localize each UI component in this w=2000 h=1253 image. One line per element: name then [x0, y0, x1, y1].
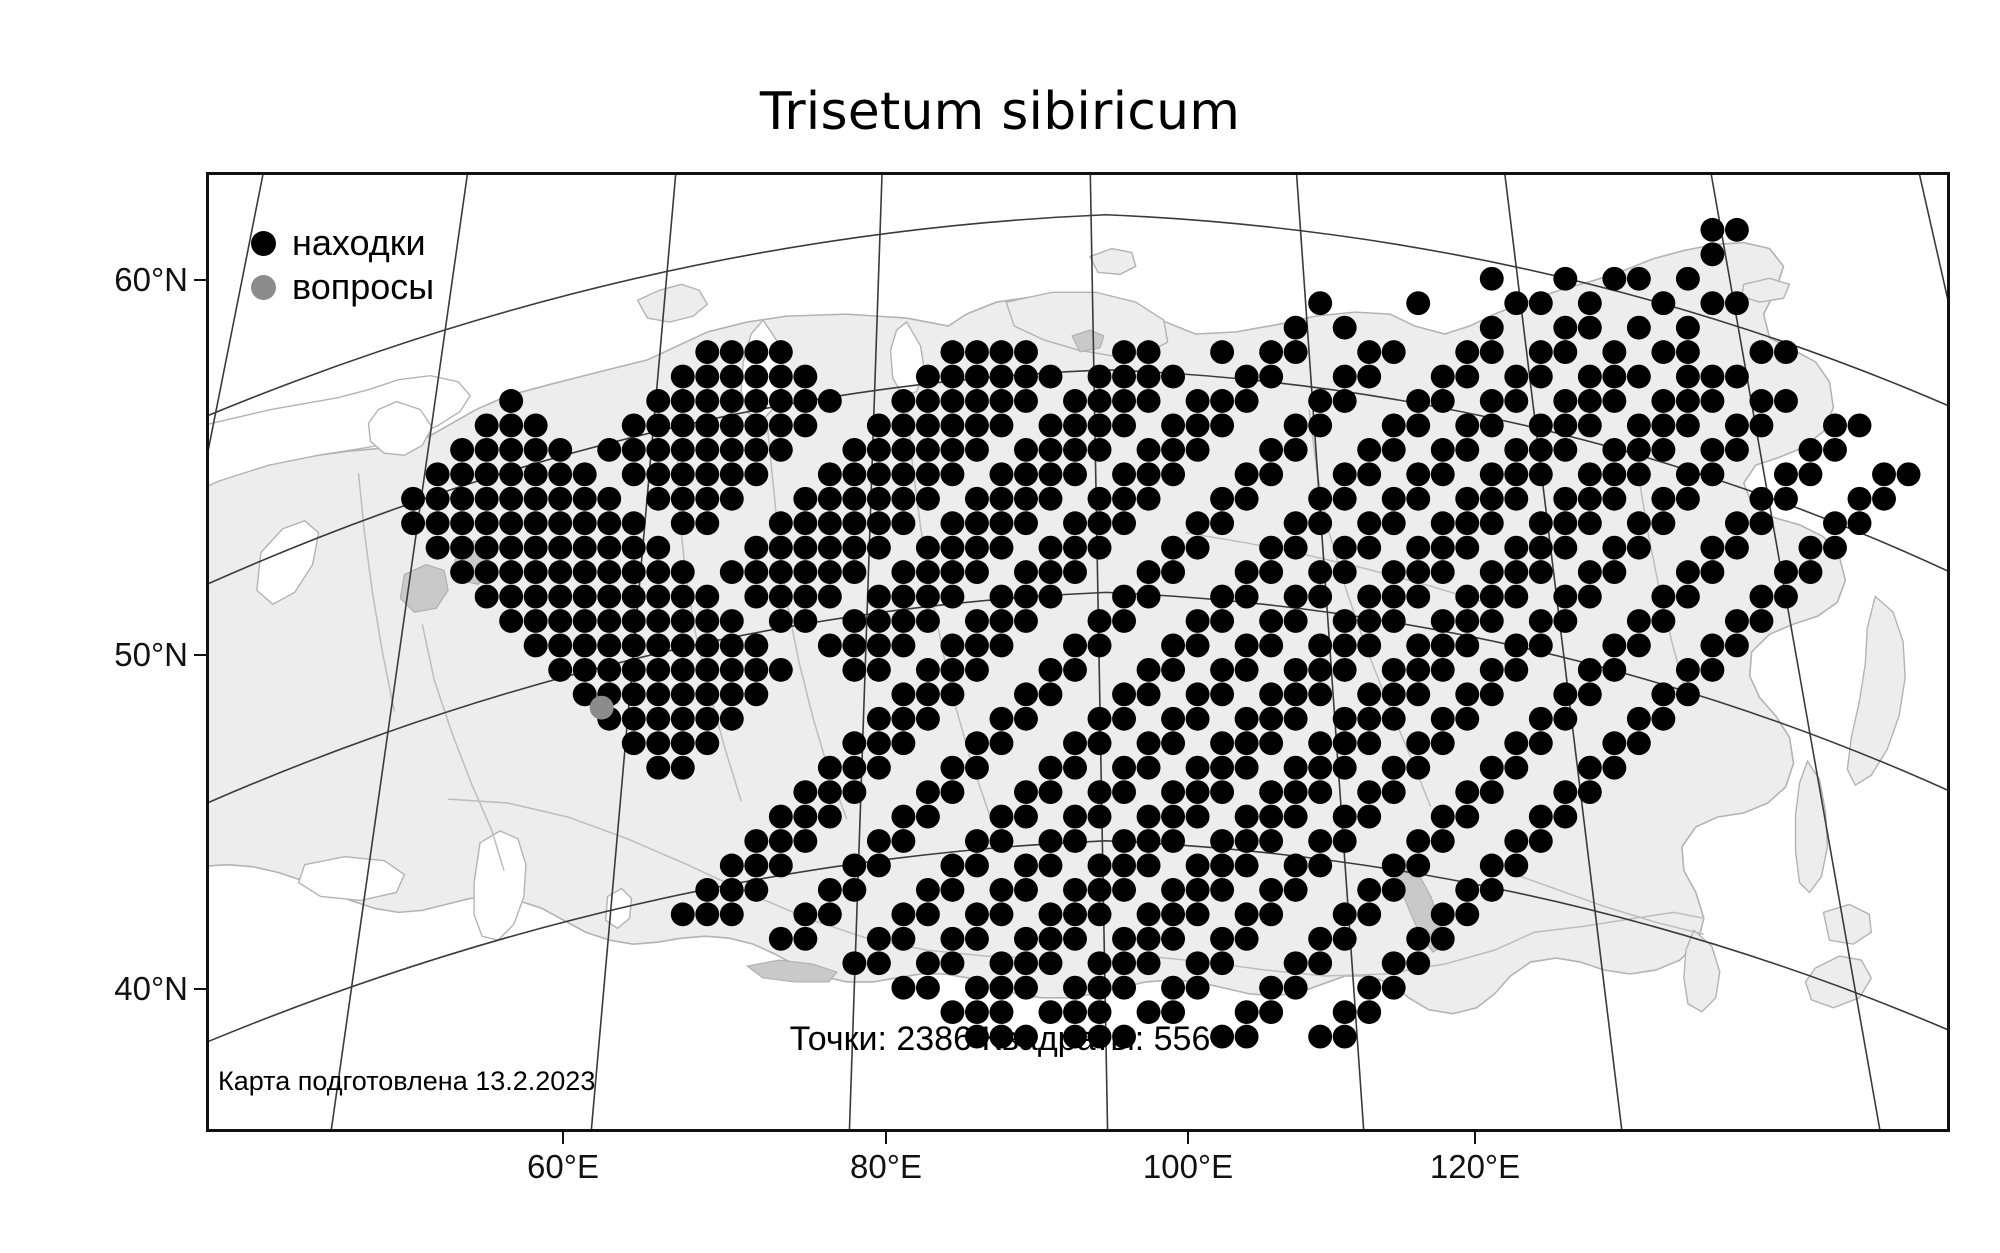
occurrence-point — [646, 731, 670, 755]
occurrence-point — [646, 560, 670, 584]
occurrence-point — [1014, 438, 1038, 462]
occurrence-point — [1161, 462, 1185, 486]
occurrence-point — [1039, 560, 1063, 584]
occurrence-point — [1480, 340, 1504, 364]
occurrence-point — [1700, 438, 1724, 462]
occurrence-point — [1382, 511, 1406, 535]
occurrence-point — [1651, 682, 1675, 706]
occurrence-point — [1578, 585, 1602, 609]
occurrence-point — [1014, 780, 1038, 804]
occurrence-point — [793, 585, 817, 609]
occurrence-point — [1357, 878, 1381, 902]
occurrence-point — [1504, 560, 1528, 584]
occurrence-point — [1578, 487, 1602, 511]
occurrence-point — [1799, 560, 1823, 584]
occurrence-point — [1284, 585, 1308, 609]
occurrence-point — [671, 707, 695, 731]
occurrence-point — [1651, 438, 1675, 462]
legend-item-nakhodki[interactable]: находки — [251, 221, 434, 265]
occurrence-point — [940, 511, 964, 535]
occurrence-point — [1627, 609, 1651, 633]
occurrence-point — [1431, 560, 1455, 584]
occurrence-point — [1308, 487, 1332, 511]
occurrence-point — [499, 536, 523, 560]
occurrence-point — [1137, 756, 1161, 780]
occurrence-point — [818, 902, 842, 926]
occurrence-point — [1504, 389, 1528, 413]
occurrence-point — [622, 609, 646, 633]
occurrence-point — [1627, 707, 1651, 731]
occurrence-point — [426, 487, 450, 511]
occurrence-point — [842, 756, 866, 780]
occurrence-point — [916, 365, 940, 389]
occurrence-point — [1259, 560, 1283, 584]
occurrence-point — [1406, 854, 1430, 878]
occurrence-point — [1333, 609, 1357, 633]
occurrence-point — [1406, 536, 1430, 560]
occurrence-point — [744, 389, 768, 413]
occurrence-point — [867, 511, 891, 535]
occurrence-point — [1725, 511, 1749, 535]
occurrence-point — [1333, 560, 1357, 584]
occurrence-point — [1161, 902, 1185, 926]
occurrence-point — [646, 707, 670, 731]
occurrence-point — [1112, 1025, 1136, 1049]
occurrence-point — [1088, 854, 1112, 878]
occurrence-point — [769, 805, 793, 829]
occurrence-point — [818, 462, 842, 486]
occurrence-point — [1014, 854, 1038, 878]
occurrence-point — [1112, 756, 1136, 780]
occurrence-point — [1676, 462, 1700, 486]
occurrence-point — [916, 585, 940, 609]
occurrence-point — [573, 609, 597, 633]
occurrence-point — [1578, 560, 1602, 584]
occurrence-point — [1357, 365, 1381, 389]
occurrence-point — [769, 511, 793, 535]
occurrence-point — [1700, 634, 1724, 658]
occurrence-point — [818, 536, 842, 560]
occurrence-point — [1014, 805, 1038, 829]
occurrence-point — [940, 634, 964, 658]
occurrence-point — [1186, 976, 1210, 1000]
occurrence-point — [1235, 805, 1259, 829]
occurrence-point — [1553, 511, 1577, 535]
occurrence-point — [1602, 487, 1626, 511]
occurrence-point — [1112, 927, 1136, 951]
occurrence-point — [1112, 878, 1136, 902]
occurrence-point — [1112, 951, 1136, 975]
occurrence-point — [1431, 462, 1455, 486]
occurrence-point — [1578, 658, 1602, 682]
occurrence-point — [573, 585, 597, 609]
occurrence-point — [1088, 365, 1112, 389]
occurrence-point — [622, 682, 646, 706]
occurrence-point — [1553, 609, 1577, 633]
occurrence-point — [1553, 585, 1577, 609]
occurrence-point — [646, 756, 670, 780]
occurrence-point — [1676, 414, 1700, 438]
occurrence-point — [1308, 585, 1332, 609]
occurrence-point — [1186, 389, 1210, 413]
occurrence-point — [1406, 829, 1430, 853]
occurrence-point — [1161, 560, 1185, 584]
occurrence-point — [1431, 805, 1455, 829]
occurrence-point — [965, 1025, 989, 1049]
occurrence-point — [965, 414, 989, 438]
occurrence-point — [1235, 731, 1259, 755]
occurrence-point — [1235, 462, 1259, 486]
occurrence-point — [1529, 365, 1553, 389]
occurrence-point — [891, 585, 915, 609]
occurrence-point — [891, 976, 915, 1000]
occurrence-point — [769, 829, 793, 853]
occurrence-point — [769, 389, 793, 413]
occurrence-point — [940, 340, 964, 364]
occurrence-point — [720, 854, 744, 878]
occurrence-point — [1308, 682, 1332, 706]
occurrence-point — [1578, 462, 1602, 486]
occurrence-point — [1357, 340, 1381, 364]
occurrence-point — [1186, 780, 1210, 804]
occurrence-point — [1848, 487, 1872, 511]
occurrence-point — [1382, 756, 1406, 780]
occurrence-point — [695, 340, 719, 364]
occurrence-point — [867, 536, 891, 560]
occurrence-point — [1308, 1025, 1332, 1049]
occurrence-point — [769, 365, 793, 389]
occurrence-point — [891, 805, 915, 829]
occurrence-point — [1039, 414, 1063, 438]
occurrence-point — [1799, 536, 1823, 560]
occurrence-point — [1333, 487, 1357, 511]
occurrence-point — [1455, 634, 1479, 658]
occurrence-point — [1063, 927, 1087, 951]
occurrence-point — [671, 756, 695, 780]
occurrence-point — [916, 609, 940, 633]
occurrence-point — [548, 609, 572, 633]
occurrence-point — [1700, 536, 1724, 560]
occurrence-point — [671, 731, 695, 755]
occurrence-point — [818, 487, 842, 511]
occurrence-point — [720, 878, 744, 902]
occurrence-point — [1455, 609, 1479, 633]
occurrence-point — [1284, 707, 1308, 731]
occurrence-point — [695, 462, 719, 486]
occurrence-point — [916, 389, 940, 413]
occurrence-point — [695, 878, 719, 902]
occurrence-point — [1529, 609, 1553, 633]
occurrence-point — [1382, 780, 1406, 804]
occurrence-point — [1333, 316, 1357, 340]
occurrence-point — [1676, 487, 1700, 511]
occurrence-point — [1431, 365, 1455, 389]
occurrence-point — [1039, 1000, 1063, 1024]
occurrence-point — [1210, 854, 1234, 878]
occurrence-point — [1676, 389, 1700, 413]
occurrence-point — [990, 511, 1014, 535]
occurrence-point — [1553, 340, 1577, 364]
occurrence-point — [891, 682, 915, 706]
occurrence-point — [891, 634, 915, 658]
occurrence-point — [867, 854, 891, 878]
occurrence-point — [1480, 878, 1504, 902]
occurrence-point — [1112, 854, 1136, 878]
occurrence-point — [1161, 878, 1185, 902]
occurrence-point — [891, 609, 915, 633]
occurrence-point — [671, 365, 695, 389]
occurrence-point — [965, 756, 989, 780]
occurrence-point — [1529, 829, 1553, 853]
distribution-map[interactable] — [209, 175, 1947, 1129]
occurrence-point — [1651, 511, 1675, 535]
occurrence-point — [1651, 707, 1675, 731]
occurrence-point — [524, 560, 548, 584]
occurrence-point — [916, 878, 940, 902]
occurrence-point — [1308, 780, 1332, 804]
occurrence-point — [1357, 438, 1381, 462]
occurrence-point — [1406, 756, 1430, 780]
occurrence-point — [1529, 707, 1553, 731]
occurrence-point — [1799, 462, 1823, 486]
occurrence-point — [1235, 1000, 1259, 1024]
occurrence-point — [1186, 511, 1210, 535]
occurrence-point — [1088, 951, 1112, 975]
occurrence-point — [965, 927, 989, 951]
occurrence-point — [1137, 487, 1161, 511]
occurrence-point — [1137, 340, 1161, 364]
occurrence-point — [990, 829, 1014, 853]
occurrence-point — [1382, 585, 1406, 609]
occurrence-point — [720, 658, 744, 682]
x-tick-label-120e: 120°E — [1430, 1148, 1520, 1186]
occurrence-point — [1014, 707, 1038, 731]
legend-label-nakhodki: находки — [292, 222, 426, 264]
occurrence-point — [671, 609, 695, 633]
occurrence-point — [671, 511, 695, 535]
occurrence-point — [671, 560, 695, 584]
occurrence-point — [1186, 902, 1210, 926]
map-legend: находки вопросы — [251, 221, 434, 309]
occurrence-point — [1651, 609, 1675, 633]
occurrence-point — [793, 902, 817, 926]
occurrence-point — [1357, 462, 1381, 486]
occurrence-point — [1700, 560, 1724, 584]
occurrence-point — [401, 511, 425, 535]
occurrence-point — [1112, 340, 1136, 364]
occurrence-point — [1431, 658, 1455, 682]
occurrence-point — [1063, 902, 1087, 926]
occurrence-point — [646, 658, 670, 682]
occurrence-point — [450, 438, 474, 462]
occurrence-point — [1235, 487, 1259, 511]
legend-item-voprosy[interactable]: вопросы — [251, 265, 434, 309]
occurrence-point — [1308, 634, 1332, 658]
occurrence-point — [769, 536, 793, 560]
occurrence-point — [1161, 536, 1185, 560]
y-tick-mark-50n — [194, 654, 206, 656]
occurrence-point — [965, 854, 989, 878]
occurrence-point — [597, 536, 621, 560]
occurrence-point — [1186, 805, 1210, 829]
occurrence-point — [940, 1000, 964, 1024]
occurrence-point — [1161, 976, 1185, 1000]
occurrence-point — [1259, 634, 1283, 658]
occurrence-point — [524, 462, 548, 486]
occurrence-point — [1333, 634, 1357, 658]
occurrence-point — [1112, 462, 1136, 486]
occurrence-point — [842, 487, 866, 511]
occurrence-point — [793, 805, 817, 829]
occurrence-point — [1651, 414, 1675, 438]
occurrence-point — [793, 609, 817, 633]
x-tick-mark-100e — [1187, 1132, 1189, 1144]
occurrence-point — [622, 438, 646, 462]
occurrence-point — [891, 389, 915, 413]
occurrence-point — [818, 878, 842, 902]
occurrence-point — [671, 658, 695, 682]
occurrence-point — [1480, 414, 1504, 438]
occurrence-point — [1480, 511, 1504, 535]
occurrence-point — [720, 462, 744, 486]
occurrence-point — [1480, 682, 1504, 706]
occurrence-point — [1137, 365, 1161, 389]
occurrence-point — [1333, 756, 1357, 780]
occurrence-point — [916, 976, 940, 1000]
occurrence-point — [475, 438, 499, 462]
occurrence-point — [1504, 756, 1528, 780]
occurrence-point — [1553, 389, 1577, 413]
occurrence-point — [1676, 585, 1700, 609]
occurrence-point — [1210, 780, 1234, 804]
occurrence-point — [1088, 878, 1112, 902]
occurrence-point — [990, 1000, 1014, 1024]
occurrence-point — [1284, 414, 1308, 438]
occurrence-point — [1063, 511, 1087, 535]
occurrence-point — [671, 585, 695, 609]
occurrence-point — [1382, 976, 1406, 1000]
occurrence-point — [695, 731, 719, 755]
occurrence-point — [622, 536, 646, 560]
occurrence-point — [1284, 438, 1308, 462]
occurrence-point — [916, 805, 940, 829]
occurrence-point — [1627, 414, 1651, 438]
occurrence-point — [1725, 634, 1749, 658]
occurrence-point — [1039, 462, 1063, 486]
occurrence-point — [818, 805, 842, 829]
occurrence-point — [867, 731, 891, 755]
occurrence-point — [1333, 462, 1357, 486]
occurrence-point — [1480, 756, 1504, 780]
occurrence-point — [1210, 927, 1234, 951]
occurrence-point — [548, 511, 572, 535]
occurrence-point — [1529, 438, 1553, 462]
occurrence-point — [1308, 756, 1332, 780]
occurrence-point — [671, 634, 695, 658]
occurrence-point — [1602, 389, 1626, 413]
occurrence-point — [1676, 658, 1700, 682]
occurrence-point — [622, 707, 646, 731]
occurrence-point — [1259, 609, 1283, 633]
occurrence-point — [1700, 462, 1724, 486]
occurrence-point — [1578, 291, 1602, 315]
occurrence-point — [1676, 560, 1700, 584]
occurrence-point — [1602, 756, 1626, 780]
occurrence-point — [1406, 462, 1430, 486]
occurrence-point — [1749, 511, 1773, 535]
occurrence-point — [1651, 389, 1675, 413]
occurrence-point — [1897, 462, 1921, 486]
occurrence-point — [1431, 902, 1455, 926]
x-tick-mark-80e — [885, 1132, 887, 1144]
occurrence-point — [1480, 560, 1504, 584]
occurrence-point — [1578, 780, 1602, 804]
occurrence-point — [891, 438, 915, 462]
occurrence-point — [1602, 634, 1626, 658]
occurrence-point — [940, 682, 964, 706]
occurrence-point — [1406, 658, 1430, 682]
occurrence-point — [1112, 609, 1136, 633]
occurrence-point — [916, 658, 940, 682]
occurrence-point — [1455, 487, 1479, 511]
occurrence-point — [1063, 414, 1087, 438]
occurrence-point — [940, 462, 964, 486]
occurrence-point — [1676, 267, 1700, 291]
occurrence-point — [793, 560, 817, 584]
legend-label-voprosy: вопросы — [292, 266, 434, 308]
occurrence-point — [1480, 585, 1504, 609]
occurrence-point — [597, 609, 621, 633]
occurrence-point — [1284, 780, 1308, 804]
x-tick-mark-60e — [562, 1132, 564, 1144]
occurrence-point — [793, 927, 817, 951]
map-plot-frame[interactable]: находки вопросы — [206, 172, 1950, 1132]
occurrence-point — [1039, 536, 1063, 560]
occurrence-point — [1700, 218, 1724, 242]
occurrence-point — [793, 389, 817, 413]
occurrence-point — [891, 731, 915, 755]
occurrence-point — [1455, 365, 1479, 389]
occurrence-point — [1455, 536, 1479, 560]
occurrence-point — [1382, 438, 1406, 462]
occurrence-point — [1382, 951, 1406, 975]
occurrence-point — [450, 560, 474, 584]
occurrence-point — [1235, 902, 1259, 926]
occurrence-point — [1480, 389, 1504, 413]
occurrence-point — [990, 585, 1014, 609]
occurrence-point — [1308, 829, 1332, 853]
occurrence-point — [1455, 878, 1479, 902]
occurrence-point — [1455, 585, 1479, 609]
occurrence-point — [1627, 634, 1651, 658]
occurrence-point — [1333, 365, 1357, 389]
occurrence-point — [793, 829, 817, 853]
occurrence-point — [1700, 365, 1724, 389]
occurrence-point — [1308, 854, 1332, 878]
occurrence-point — [1014, 365, 1038, 389]
occurrence-point — [1112, 976, 1136, 1000]
occurrence-point — [1186, 854, 1210, 878]
occurrence-point — [1308, 927, 1332, 951]
occurrence-point — [1529, 536, 1553, 560]
occurrence-point — [1553, 805, 1577, 829]
occurrence-point — [1308, 731, 1332, 755]
occurrence-point — [940, 878, 964, 902]
occurrence-point — [1063, 462, 1087, 486]
map-page: Trisetum sibiricum 60°N 50°N 40°N 60°E 8… — [0, 0, 2000, 1253]
occurrence-point — [1357, 805, 1381, 829]
occurrence-point — [990, 1025, 1014, 1049]
